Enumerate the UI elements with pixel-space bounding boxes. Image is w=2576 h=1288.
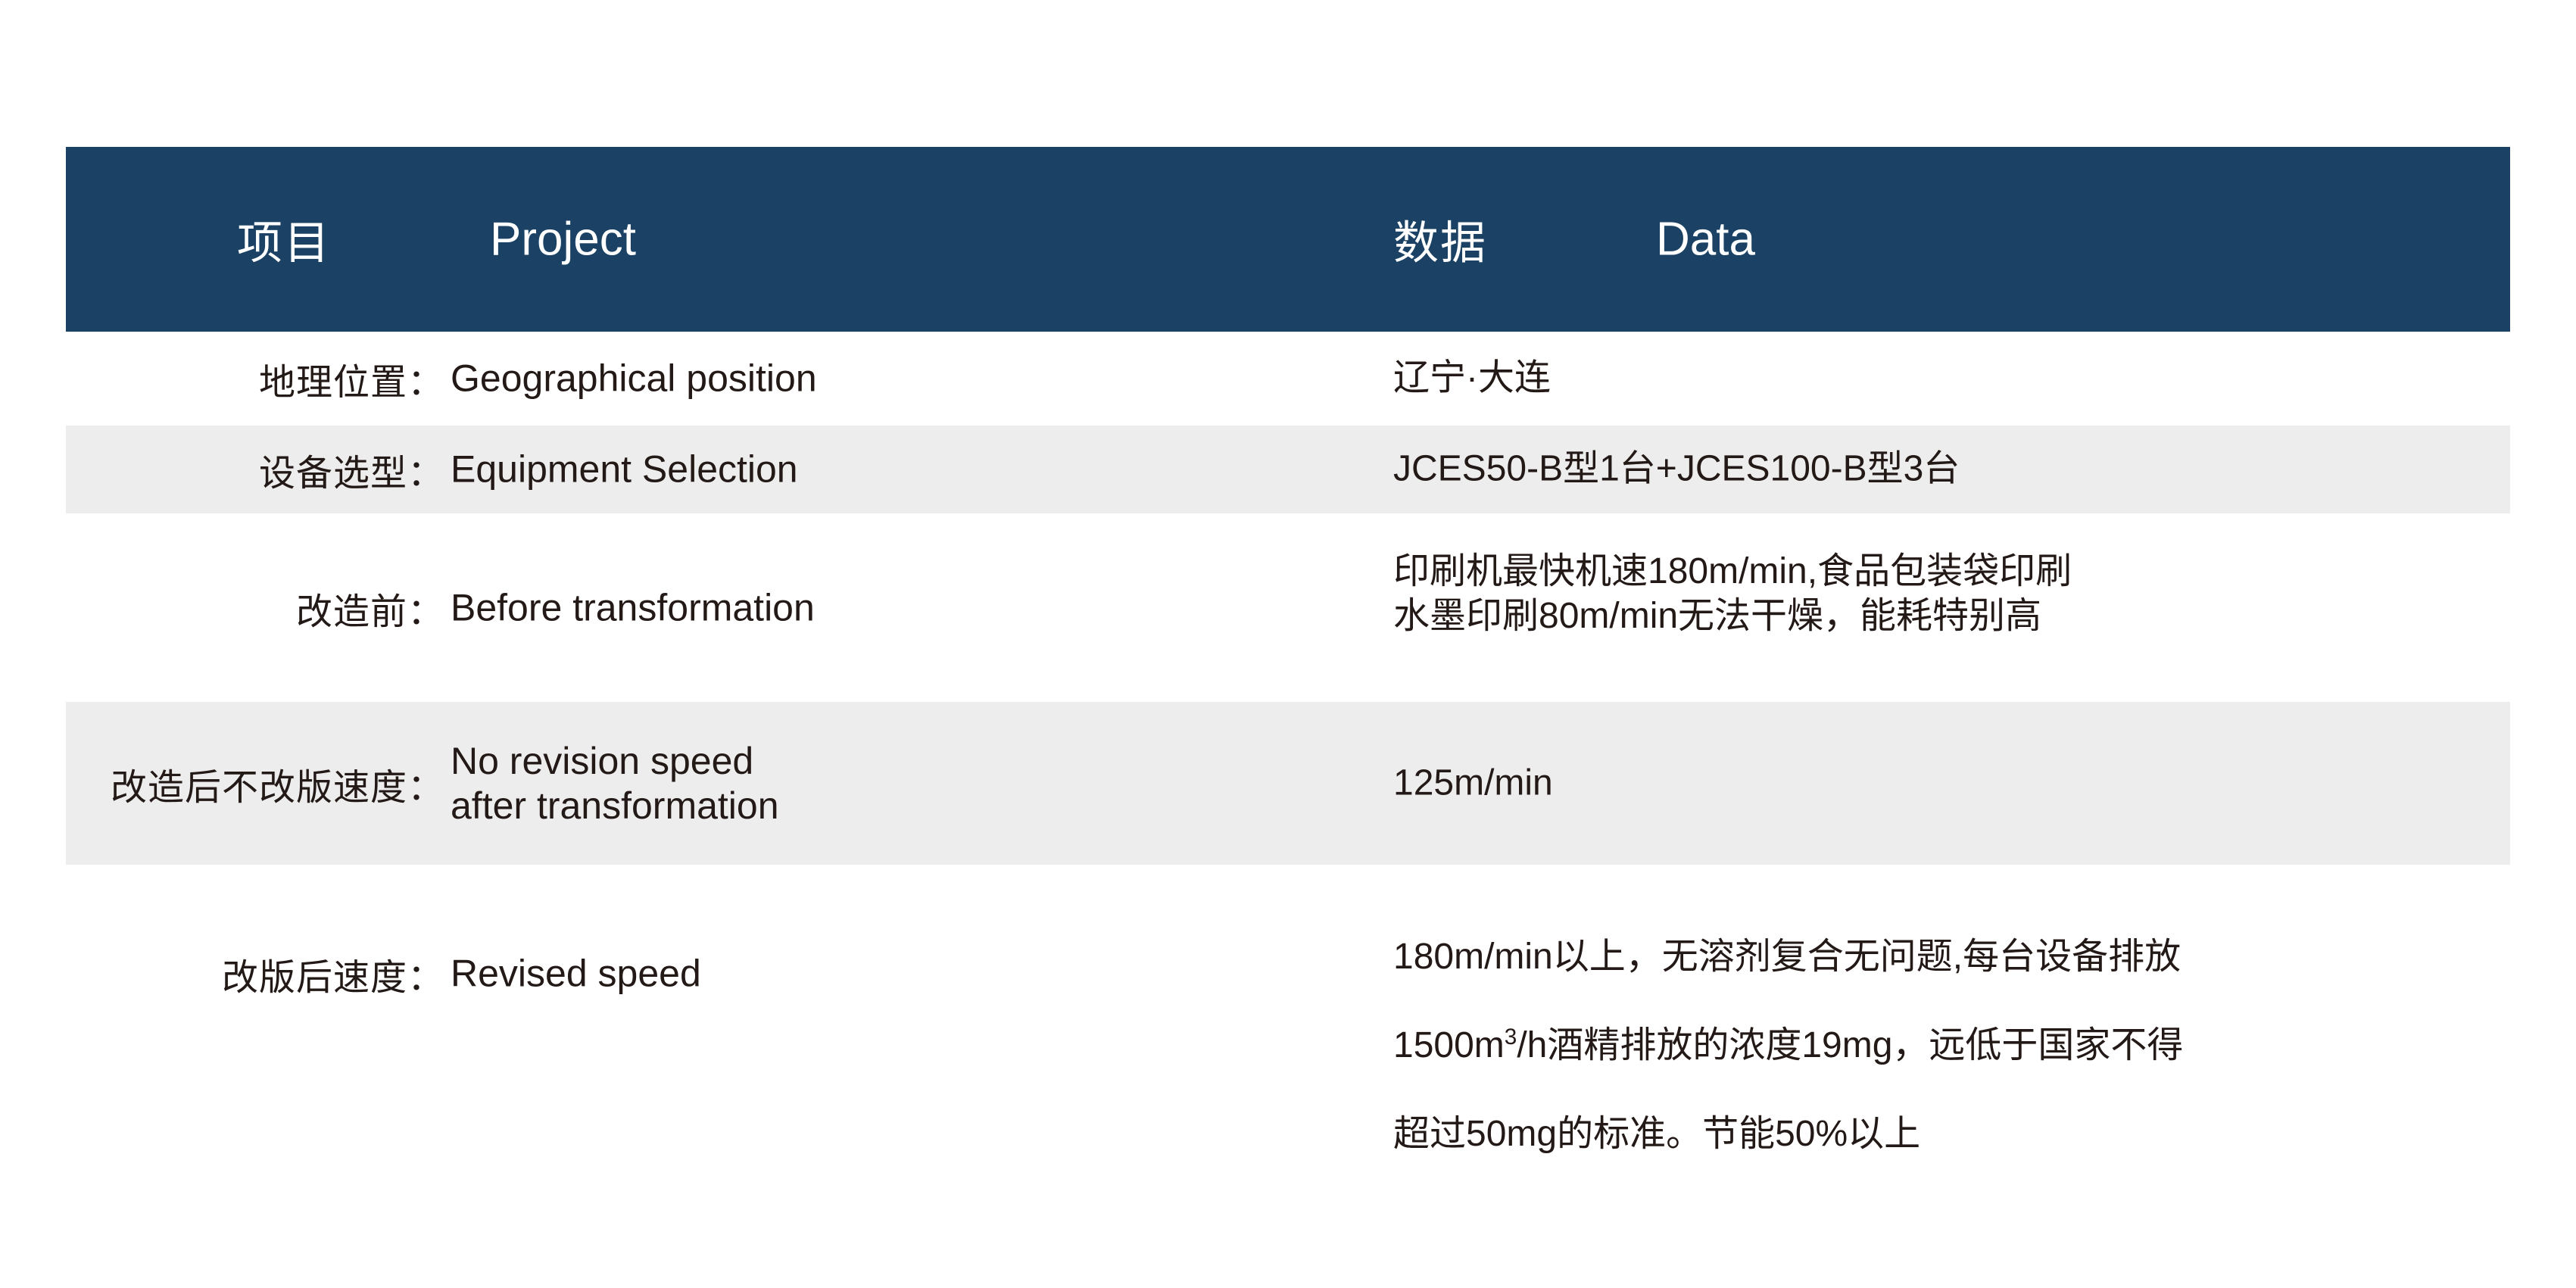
table-row: 改造后不改版速度： No revision speed after transf… [66, 702, 2510, 865]
row-value: 125m/min [1393, 761, 2499, 806]
row-label-zh: 改造后不改版速度： [66, 757, 444, 810]
row-label-zh: 设备选型： [66, 443, 444, 496]
header-data-label-en: Data [1656, 213, 1755, 267]
row-label-en: Geographical position [451, 357, 1344, 401]
table-row: 改版后速度： Revised speed 180m/min以上，无溶剂复合无问题… [66, 865, 2510, 1083]
row-value-line-3: 超过50mg的标准。节能50%以上 [1393, 1112, 2499, 1157]
row-value-line-2-post: /h酒精排放的浓度19mg，远低于国家不得 [1517, 1025, 2183, 1065]
header-project-label-zh: 项目 [237, 207, 331, 273]
row-value-line-2-pre: 1500m [1393, 1025, 1505, 1065]
row-value: 180m/min以上，无溶剂复合无问题,每台设备排放 1500m3/h酒精排放的… [1393, 890, 2499, 1201]
cubic-metre-superscript: 3 [1505, 1024, 1517, 1049]
header-data-label-zh: 数据 [1393, 207, 1487, 273]
table-row: 改造前： Before transformation 印刷机最快机速180m/m… [66, 513, 2510, 702]
row-label-en: Equipment Selection [451, 448, 1344, 492]
row-label-en: Revised speed [451, 952, 1344, 996]
row-label-en: Before transformation [451, 585, 1344, 630]
header-project-label-en: Project [490, 213, 636, 267]
row-label-zh: 改造前： [66, 582, 444, 635]
row-label-en: No revision speed after transformation [451, 739, 1344, 828]
table-row: 地理位置： Geographical position 辽宁·大连 [66, 332, 2510, 426]
row-value-line-1: 180m/min以上，无溶剂复合无问题,每台设备排放 [1393, 935, 2499, 980]
table-row: 设备选型： Equipment Selection JCES50-B型1台+JC… [66, 426, 2510, 513]
row-label-zh: 地理位置： [66, 352, 444, 405]
row-value: 辽宁·大连 [1393, 357, 2499, 401]
row-label-zh: 改版后速度： [66, 947, 444, 1000]
project-data-table: 项目 Project 数据 Data 地理位置： Geographical po… [66, 147, 2510, 1083]
table-header-row: 项目 Project 数据 Data [66, 147, 2510, 332]
row-value: 印刷机最快机速180m/min,食品包装袋印刷 水墨印刷80m/min无法干燥，… [1393, 550, 2499, 638]
row-value-line-2: 1500m3/h酒精排放的浓度19mg，远低于国家不得 [1393, 1024, 2499, 1068]
row-value: JCES50-B型1台+JCES100-B型3台 [1393, 448, 2499, 492]
